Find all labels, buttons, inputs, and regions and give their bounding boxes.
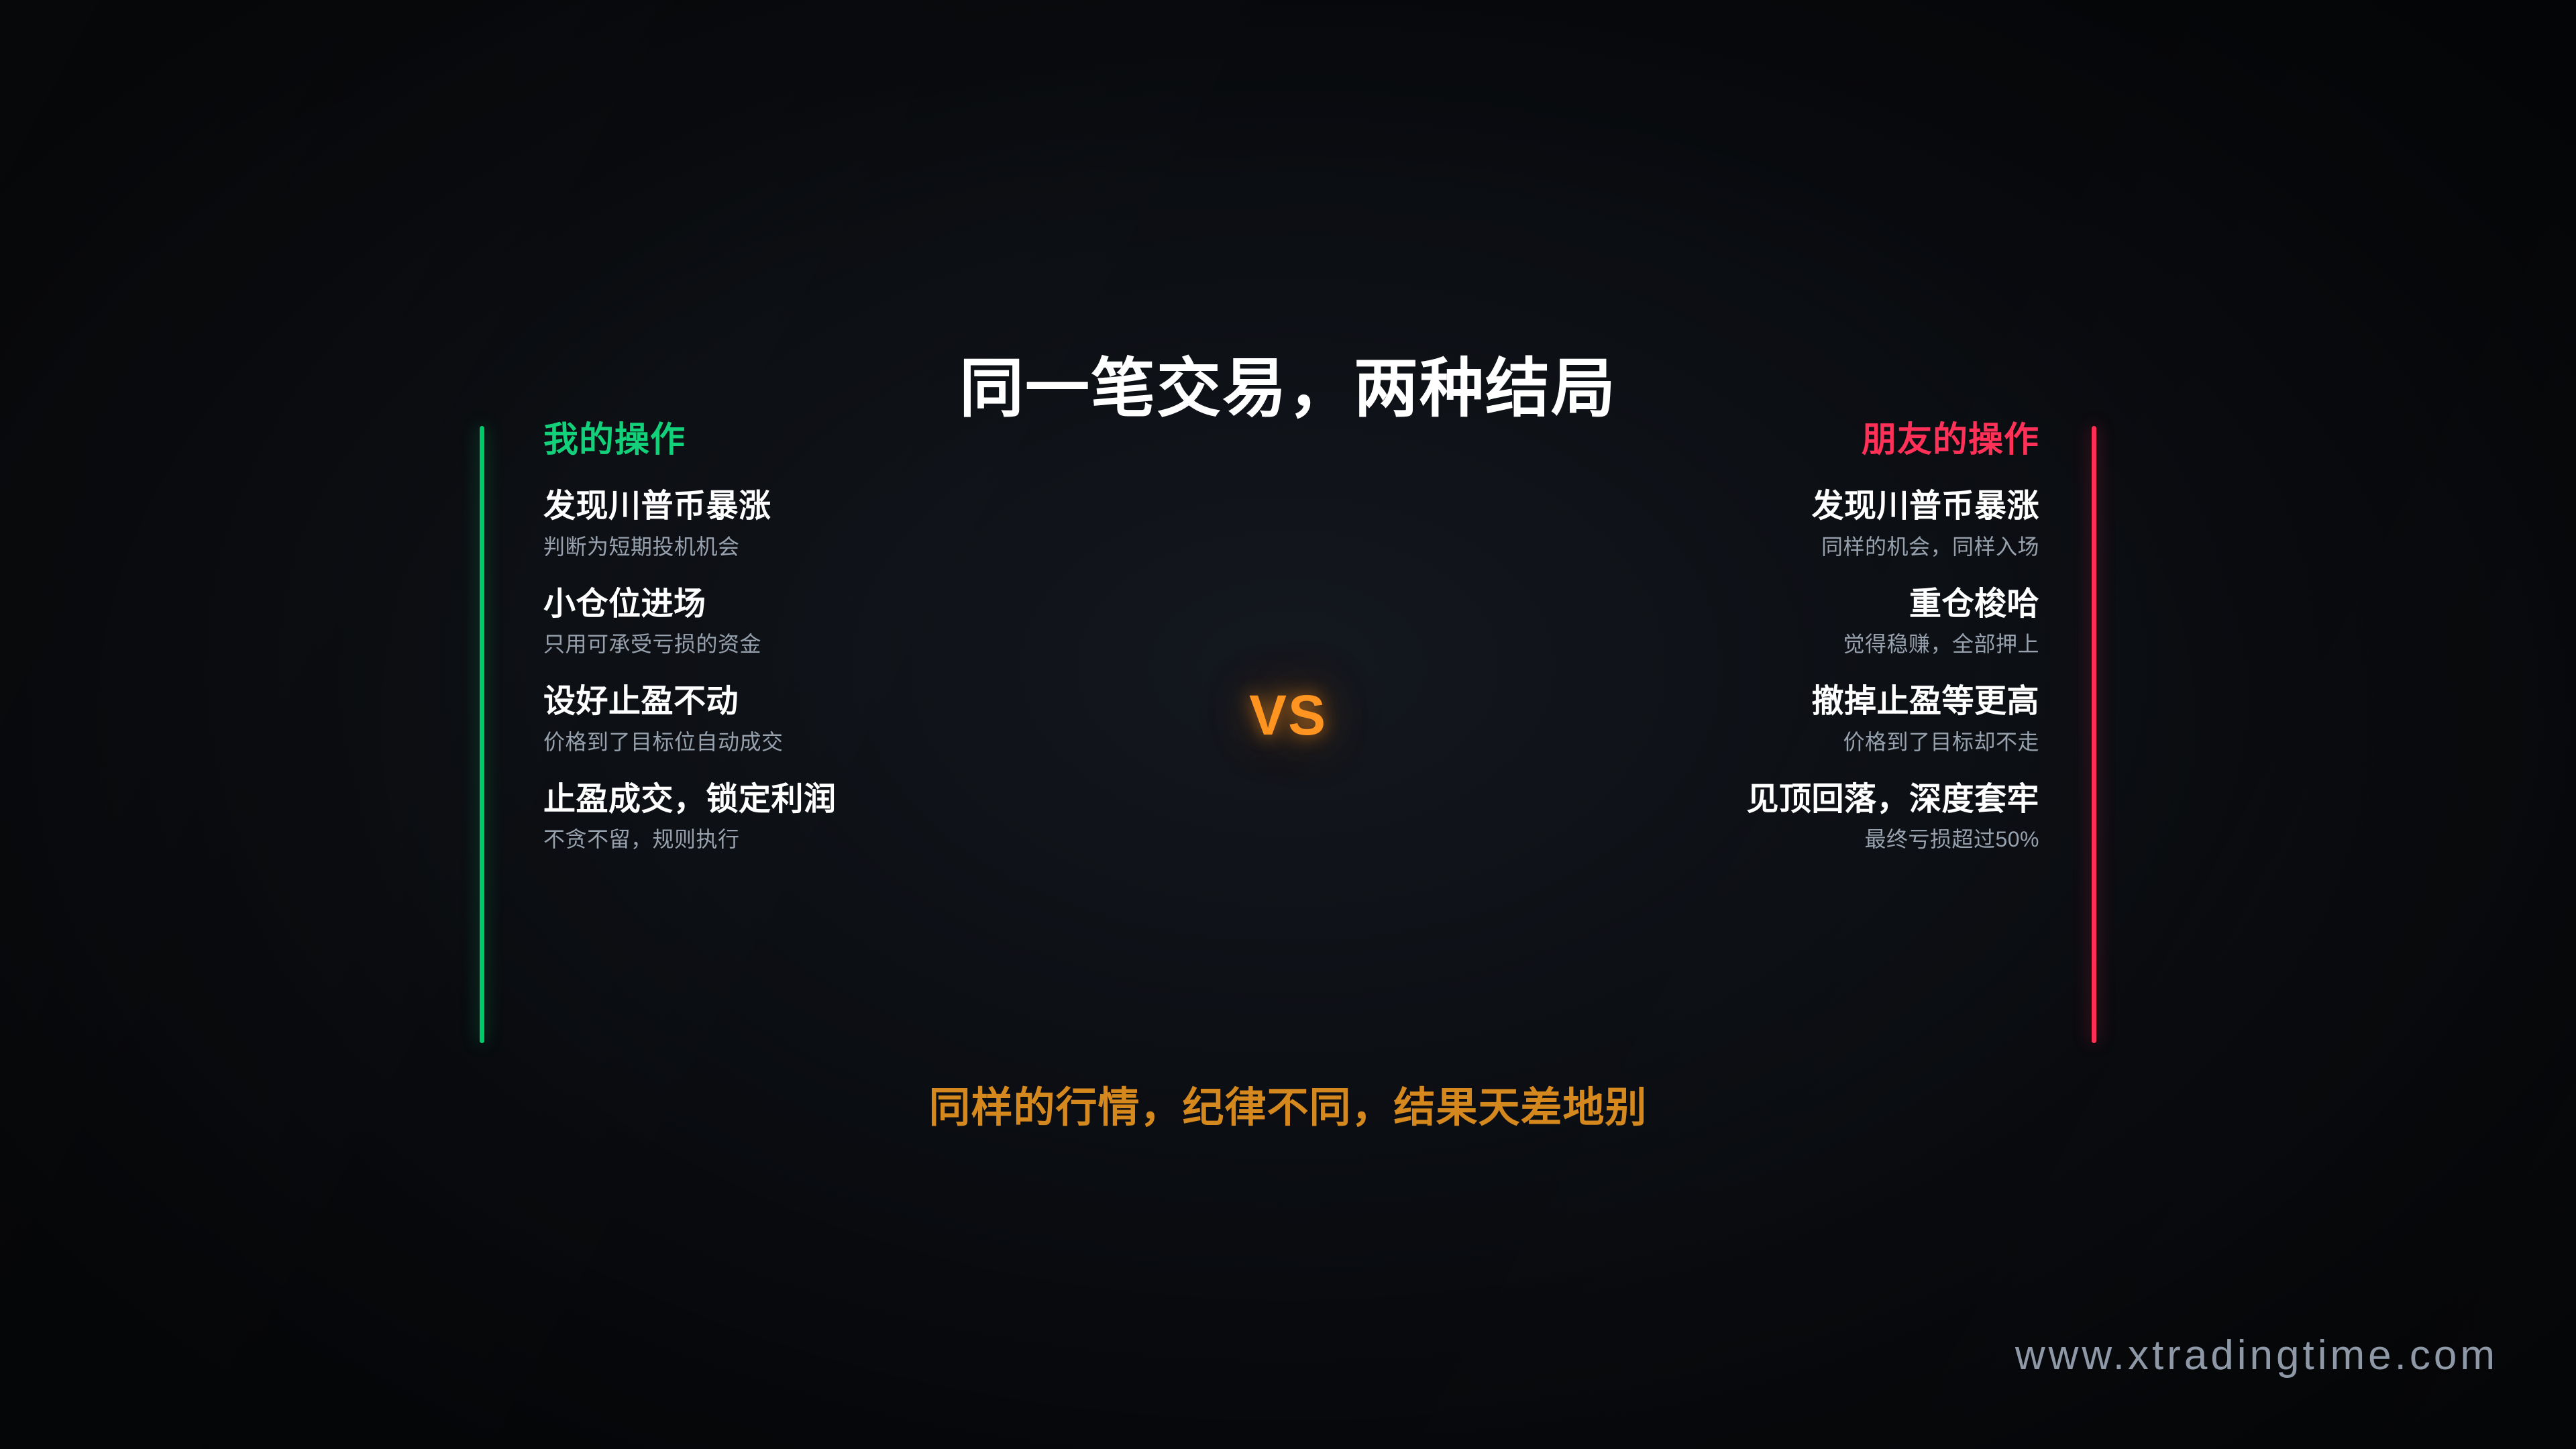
step-title: 见顶回落，深度套牢 xyxy=(1449,780,2039,820)
page-title: 同一笔交易，两种结局 xyxy=(0,352,2576,426)
tagline: 同样的行情，纪律不同，结果天差地别 xyxy=(0,1073,2576,1134)
list-item: 发现川普币暴涨 同样的机会，同样入场 xyxy=(1449,487,2039,561)
step-description: 同样的机会，同样入场 xyxy=(1449,533,2039,561)
right-accent-bar xyxy=(2092,426,2096,1043)
step-description: 只用可承受亏损的资金 xyxy=(543,631,1134,658)
step-description: 判断为短期投机机会 xyxy=(543,533,1134,561)
step-title: 发现川普币暴涨 xyxy=(1449,487,2039,527)
list-item: 见顶回落，深度套牢 最终亏损超过50% xyxy=(1449,780,2039,854)
step-title: 止盈成交，锁定利润 xyxy=(543,780,1134,820)
step-title: 重仓梭哈 xyxy=(1449,585,2039,625)
list-item: 止盈成交，锁定利润 不贪不留，规则执行 xyxy=(543,780,1134,854)
list-item: 设好止盈不动 价格到了目标位自动成交 xyxy=(543,682,1134,756)
list-item: 重仓梭哈 觉得稳赚，全部押上 xyxy=(1449,585,2039,659)
step-title: 小仓位进场 xyxy=(543,585,1134,625)
step-title: 设好止盈不动 xyxy=(543,682,1134,722)
step-title: 撤掉止盈等更高 xyxy=(1449,682,2039,722)
column-my-actions: 我的操作 发现川普币暴涨 判断为短期投机机会 小仓位进场 只用可承受亏损的资金 … xyxy=(543,423,1134,853)
step-description: 觉得稳赚，全部押上 xyxy=(1449,631,2039,658)
column-friend-actions: 朋友的操作 发现川普币暴涨 同样的机会，同样入场 重仓梭哈 觉得稳赚，全部押上 … xyxy=(1449,423,2039,853)
slide-canvas: 同一笔交易，两种结局 我的操作 发现川普币暴涨 判断为短期投机机会 小仓位进场 … xyxy=(0,0,2576,1449)
column-header-my-actions: 我的操作 xyxy=(543,423,1134,458)
list-item: 发现川普币暴涨 判断为短期投机机会 xyxy=(543,487,1134,561)
left-accent-bar xyxy=(480,426,484,1043)
list-item: 撤掉止盈等更高 价格到了目标却不走 xyxy=(1449,682,2039,756)
step-description: 不贪不留，规则执行 xyxy=(543,826,1134,853)
column-header-friend-actions: 朋友的操作 xyxy=(1449,423,2039,458)
list-item: 小仓位进场 只用可承受亏损的资金 xyxy=(543,585,1134,659)
step-description: 价格到了目标却不走 xyxy=(1449,729,2039,756)
step-title: 发现川普币暴涨 xyxy=(543,487,1134,527)
footer-website-watermark: www.xtradingtime.com xyxy=(2015,1332,2498,1379)
step-description: 价格到了目标位自动成交 xyxy=(543,729,1134,756)
comparison-board: 我的操作 发现川普币暴涨 判断为短期投机机会 小仓位进场 只用可承受亏损的资金 … xyxy=(480,423,2096,1046)
step-description: 最终亏损超过50% xyxy=(1449,826,2039,853)
